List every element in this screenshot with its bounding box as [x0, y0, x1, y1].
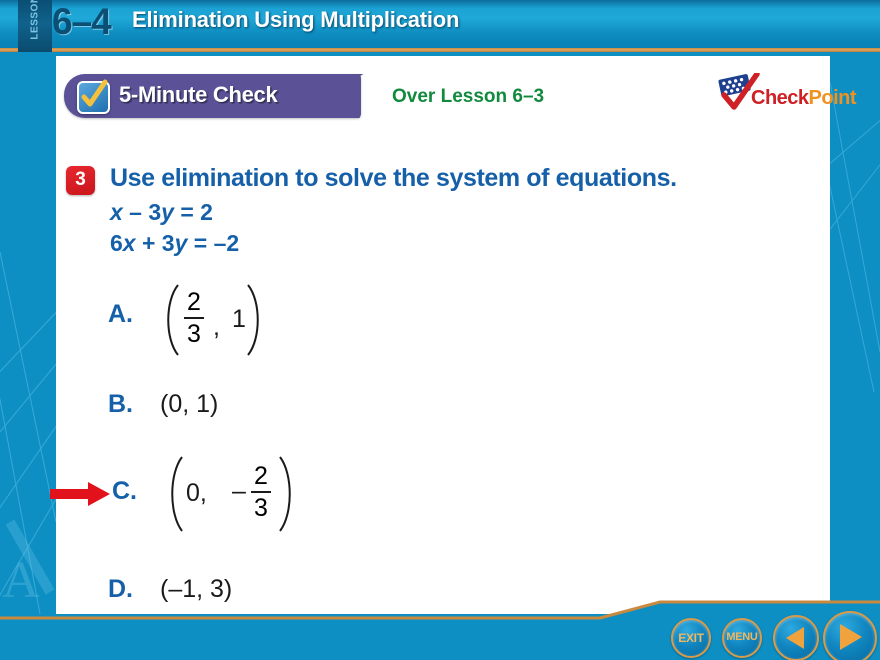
fraction-two-thirds-negative: 2 3 — [251, 463, 271, 522]
question-number-label: 3 — [66, 169, 95, 191]
fraction-two-thirds: 2 3 — [184, 289, 204, 348]
choice-a-comma: , — [213, 313, 220, 342]
band-line-pattern-icon: A — [0, 52, 56, 614]
left-paren-icon — [162, 455, 188, 533]
correct-answer-arrow-icon — [50, 481, 112, 507]
fraction-numerator: 2 — [184, 289, 204, 315]
five-minute-check-banner: 5-Minute Check — [64, 74, 361, 118]
over-lesson-label: Over Lesson 6–3 — [392, 86, 544, 108]
choice-c-letter[interactable]: C. — [112, 477, 137, 506]
choice-b-value[interactable]: (0, 1) — [160, 390, 218, 419]
exit-button-label: EXIT — [673, 631, 709, 645]
header-underline — [0, 48, 880, 52]
choice-b-letter[interactable]: B. — [108, 390, 133, 419]
equation-2: 6x + 3y = –2 — [110, 230, 239, 257]
fraction-numerator: 2 — [251, 463, 271, 489]
band-line-pattern-right-icon — [830, 52, 880, 614]
menu-button-label: MENU — [724, 631, 760, 643]
question-prompt: Use elimination to solve the system of e… — [110, 164, 677, 193]
triangle-left-icon — [784, 626, 808, 650]
right-paren-icon — [242, 283, 268, 357]
checkpoint-check-text: Check — [751, 87, 809, 109]
checkpoint-wordmark: CheckPoint — [751, 87, 856, 110]
choice-c-minus-sign: – — [232, 477, 246, 506]
page-title: Elimination Using Multiplication — [132, 7, 459, 33]
fraction-denominator: 3 — [251, 495, 271, 521]
checkpoint-point-text: Point — [809, 87, 857, 109]
left-decorative-band: A — [0, 52, 56, 614]
choice-c-first-value: 0, — [186, 479, 207, 508]
lesson-number: 6–4 — [52, 1, 111, 43]
previous-slide-button[interactable] — [773, 615, 819, 660]
right-paren-icon — [274, 455, 300, 533]
five-minute-check-label: 5-Minute Check — [119, 82, 277, 108]
checkbox-check-icon — [77, 81, 110, 114]
exit-button[interactable]: EXIT — [671, 618, 711, 658]
fraction-denominator: 3 — [184, 321, 204, 347]
question-number-badge: 3 — [66, 166, 95, 195]
equation-1: x – 3y = 2 — [110, 199, 213, 226]
next-slide-button[interactable] — [823, 611, 877, 660]
fraction-bar — [184, 317, 204, 319]
lesson-tab: LESSON — [18, 0, 52, 52]
right-decorative-band — [830, 52, 880, 614]
lesson-word-label: LESSON — [30, 0, 41, 48]
slide-root: A LESSON 6–4 Elimination Using Multiplic… — [0, 0, 880, 660]
triangle-right-icon — [837, 623, 865, 651]
left-paren-icon — [158, 283, 184, 357]
checkpoint-logo: CheckPoint — [712, 73, 848, 115]
fraction-bar — [251, 491, 271, 493]
menu-button[interactable]: MENU — [722, 618, 762, 658]
choice-a-letter[interactable]: A. — [108, 300, 133, 329]
